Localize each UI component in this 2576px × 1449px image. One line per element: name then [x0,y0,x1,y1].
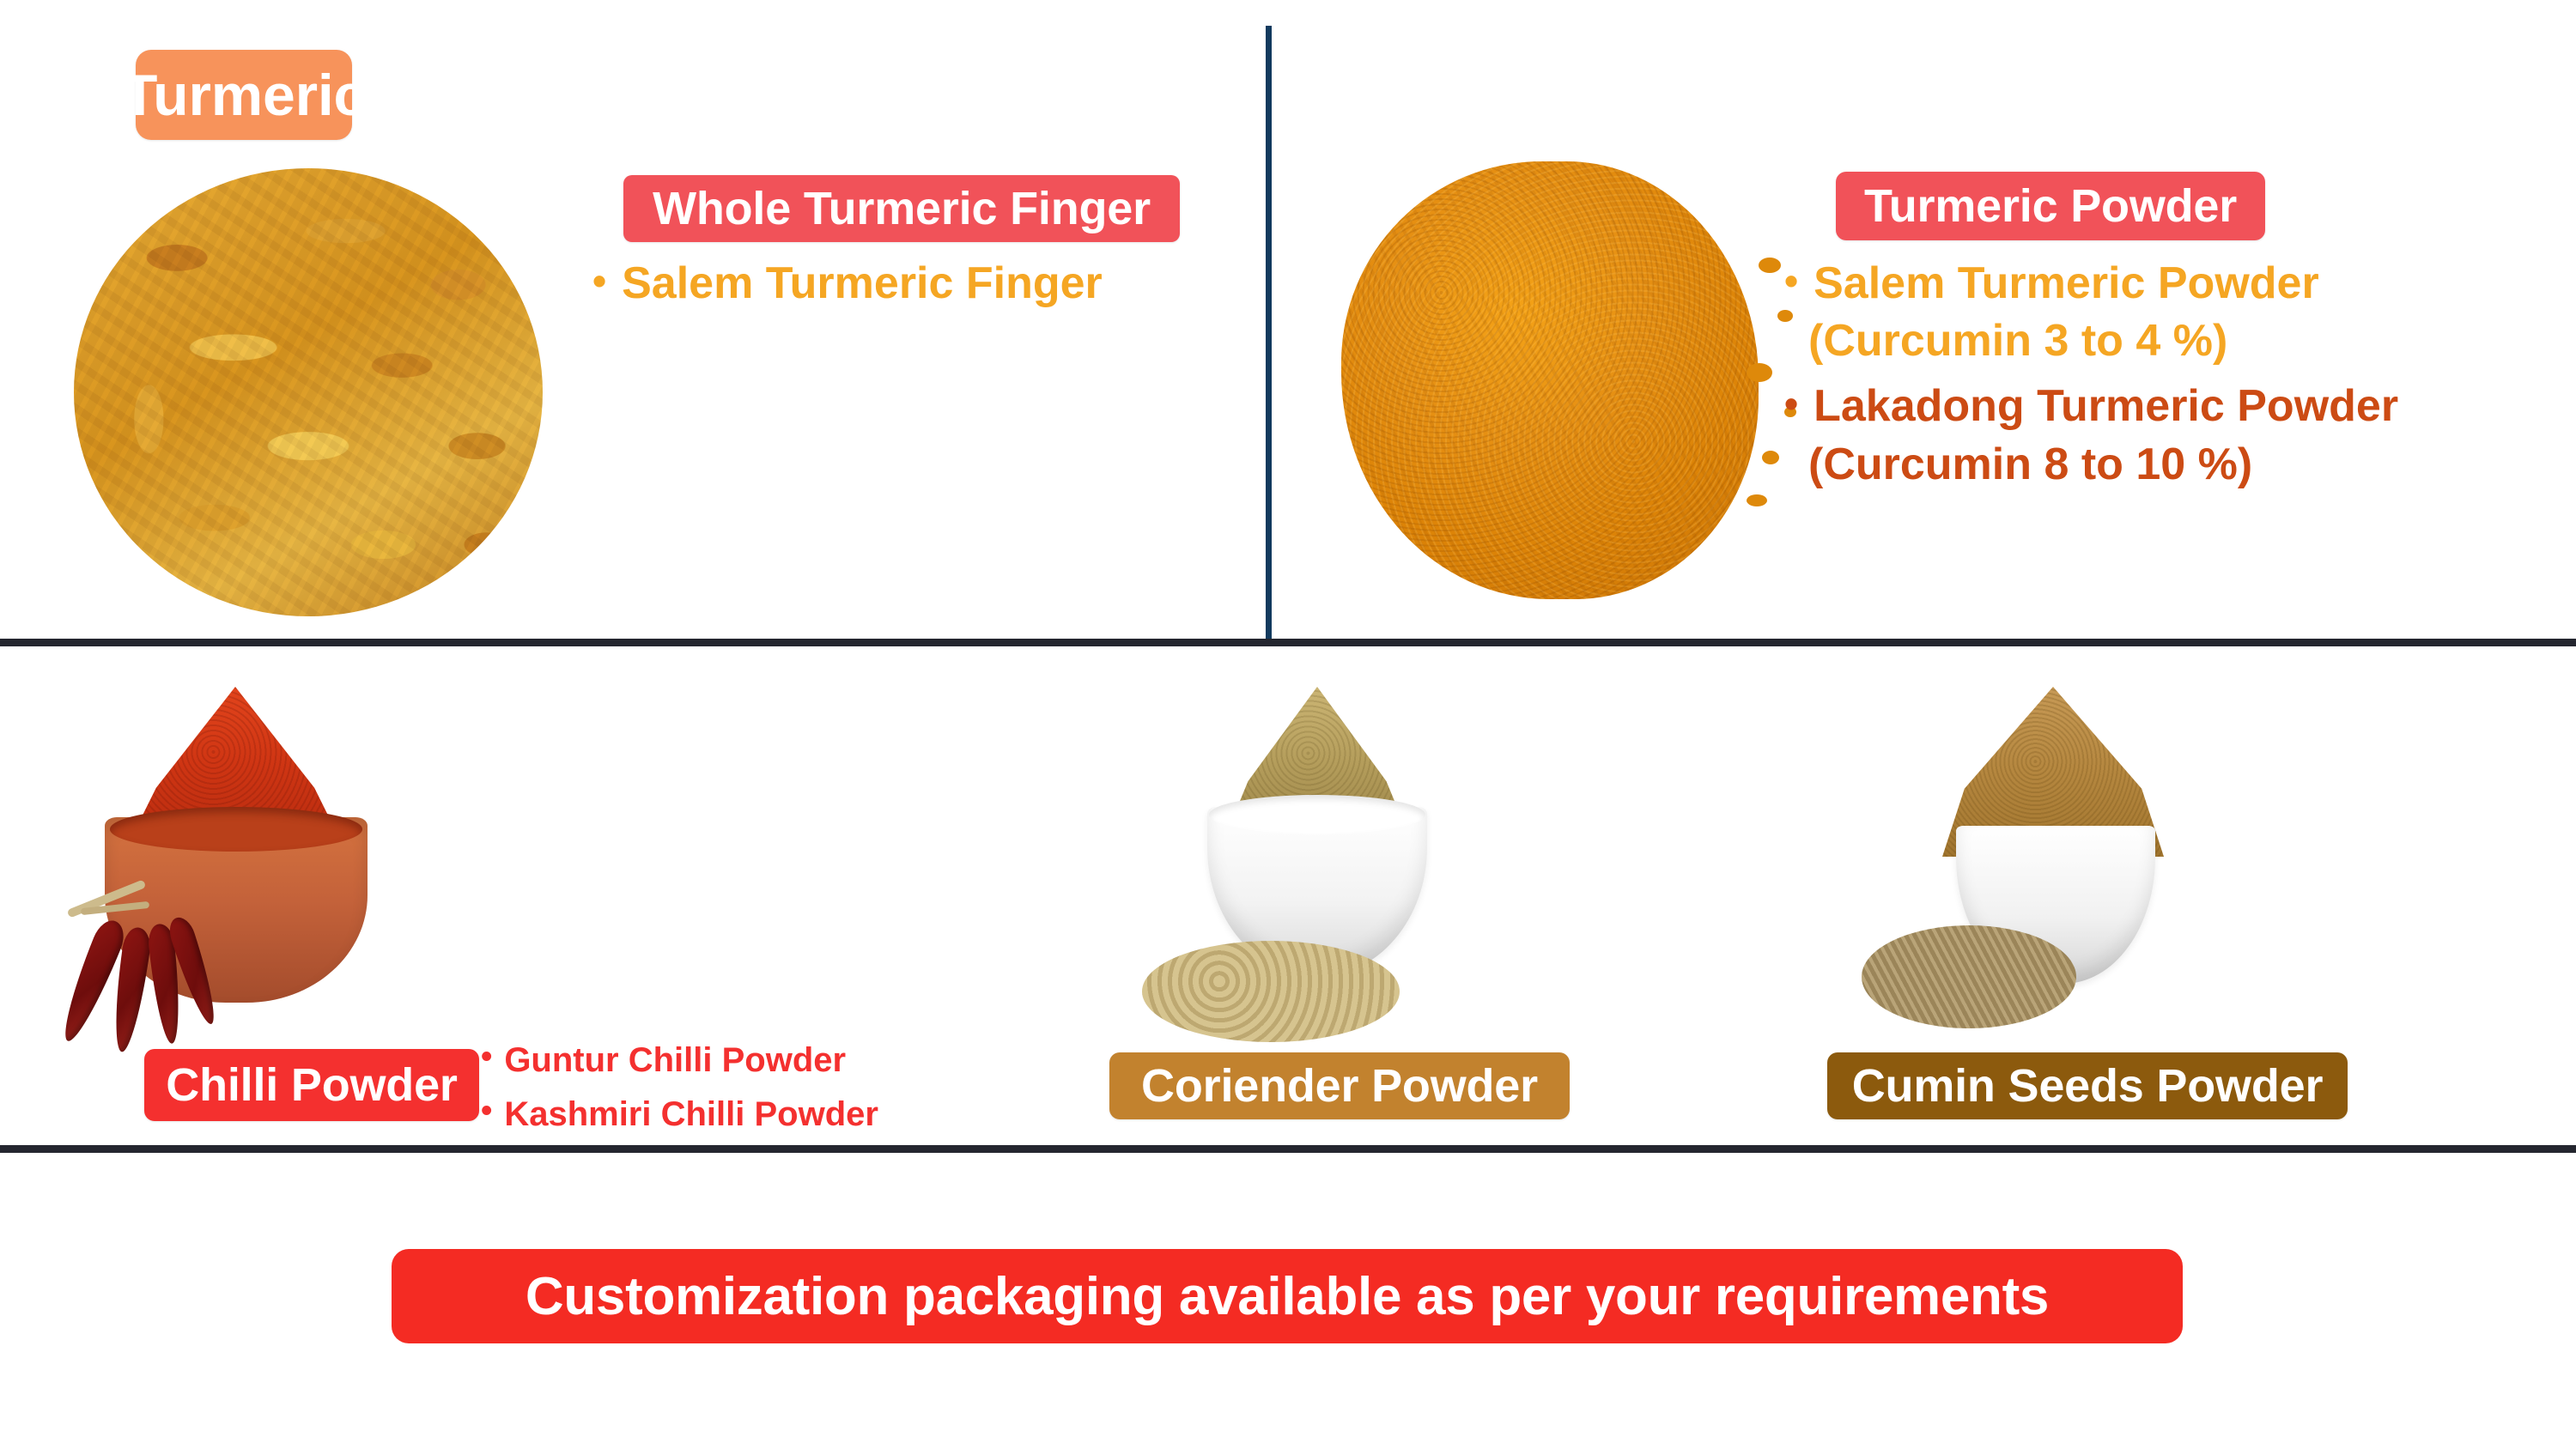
list-item-label: Salem Turmeric Finger [622,258,1103,310]
list-item-label: Guntur Chilli Powder [504,1040,846,1081]
bullet-dot-icon: • [1784,384,1798,423]
vertical-divider [1266,26,1272,642]
powder-speck [1759,258,1781,273]
customization-banner: Customization packaging available as per… [392,1249,2183,1343]
product-badge-cumin-seeds-powder: Cumin Seeds Powder [1827,1052,2348,1119]
powder-speck [1747,363,1772,382]
list-item-sublabel: (Curcumin 8 to 10 %) [1784,439,2398,490]
product-badge-coriander-powder: Coriender Powder [1109,1052,1570,1119]
cumin-seeds-powder-bowl-photo [1855,687,2258,1056]
powder-speck [1762,451,1779,464]
bullet-dot-icon: • [481,1094,492,1127]
chilli-powder-bowl-photo [52,687,447,1056]
horizontal-divider-bottom [0,1145,2576,1153]
list-item: • Guntur Chilli Powder [481,1040,878,1081]
bullet-dot-icon: • [481,1040,492,1073]
chilli-powder-list: • Guntur Chilli Powder • Kashmiri Chilli… [481,1040,878,1149]
powder-speck [1747,494,1767,506]
list-item-label: Salem Turmeric Powder [1814,258,2319,310]
product-badge-turmeric-powder: Turmeric Powder [1836,172,2265,240]
list-item: • Salem Turmeric Finger [592,258,1103,310]
horizontal-divider-top [0,639,2576,646]
turmeric-powder-list: • Salem Turmeric Powder (Curcumin 3 to 4… [1784,258,2398,504]
bullet-dot-icon: • [1784,261,1798,300]
list-item-label: Lakadong Turmeric Powder [1814,380,2398,433]
product-badge-chilli-powder: Chilli Powder [144,1049,479,1121]
turmeric-powder-pile-photo [1341,161,1759,599]
photo-texture-overlay [1341,161,1759,599]
coriander-powder-bowl-photo [1125,687,1528,1056]
photo-texture-overlay [74,168,543,616]
list-item: • Salem Turmeric Powder (Curcumin 3 to 4… [1784,258,2398,367]
whole-turmeric-fingers-photo [74,168,543,616]
category-badge-turmeric: Turmeric [136,50,352,140]
list-item-label: Kashmiri Chilli Powder [504,1094,878,1135]
bullet-dot-icon: • [592,261,606,300]
coriander-seeds-pile [1142,941,1400,1042]
whole-turmeric-finger-list: • Salem Turmeric Finger [592,258,1103,310]
product-badge-whole-turmeric-finger: Whole Turmeric Finger [623,175,1180,242]
list-item: • Lakadong Turmeric Powder (Curcumin 8 t… [1784,380,2398,489]
cumin-seeds-pile [1862,925,2076,1028]
list-item: • Kashmiri Chilli Powder [481,1094,878,1135]
list-item-sublabel: (Curcumin 3 to 4 %) [1784,315,2398,367]
catalogue-canvas: Turmeric Whole Turmeric Finger • Salem T… [0,0,2576,1449]
